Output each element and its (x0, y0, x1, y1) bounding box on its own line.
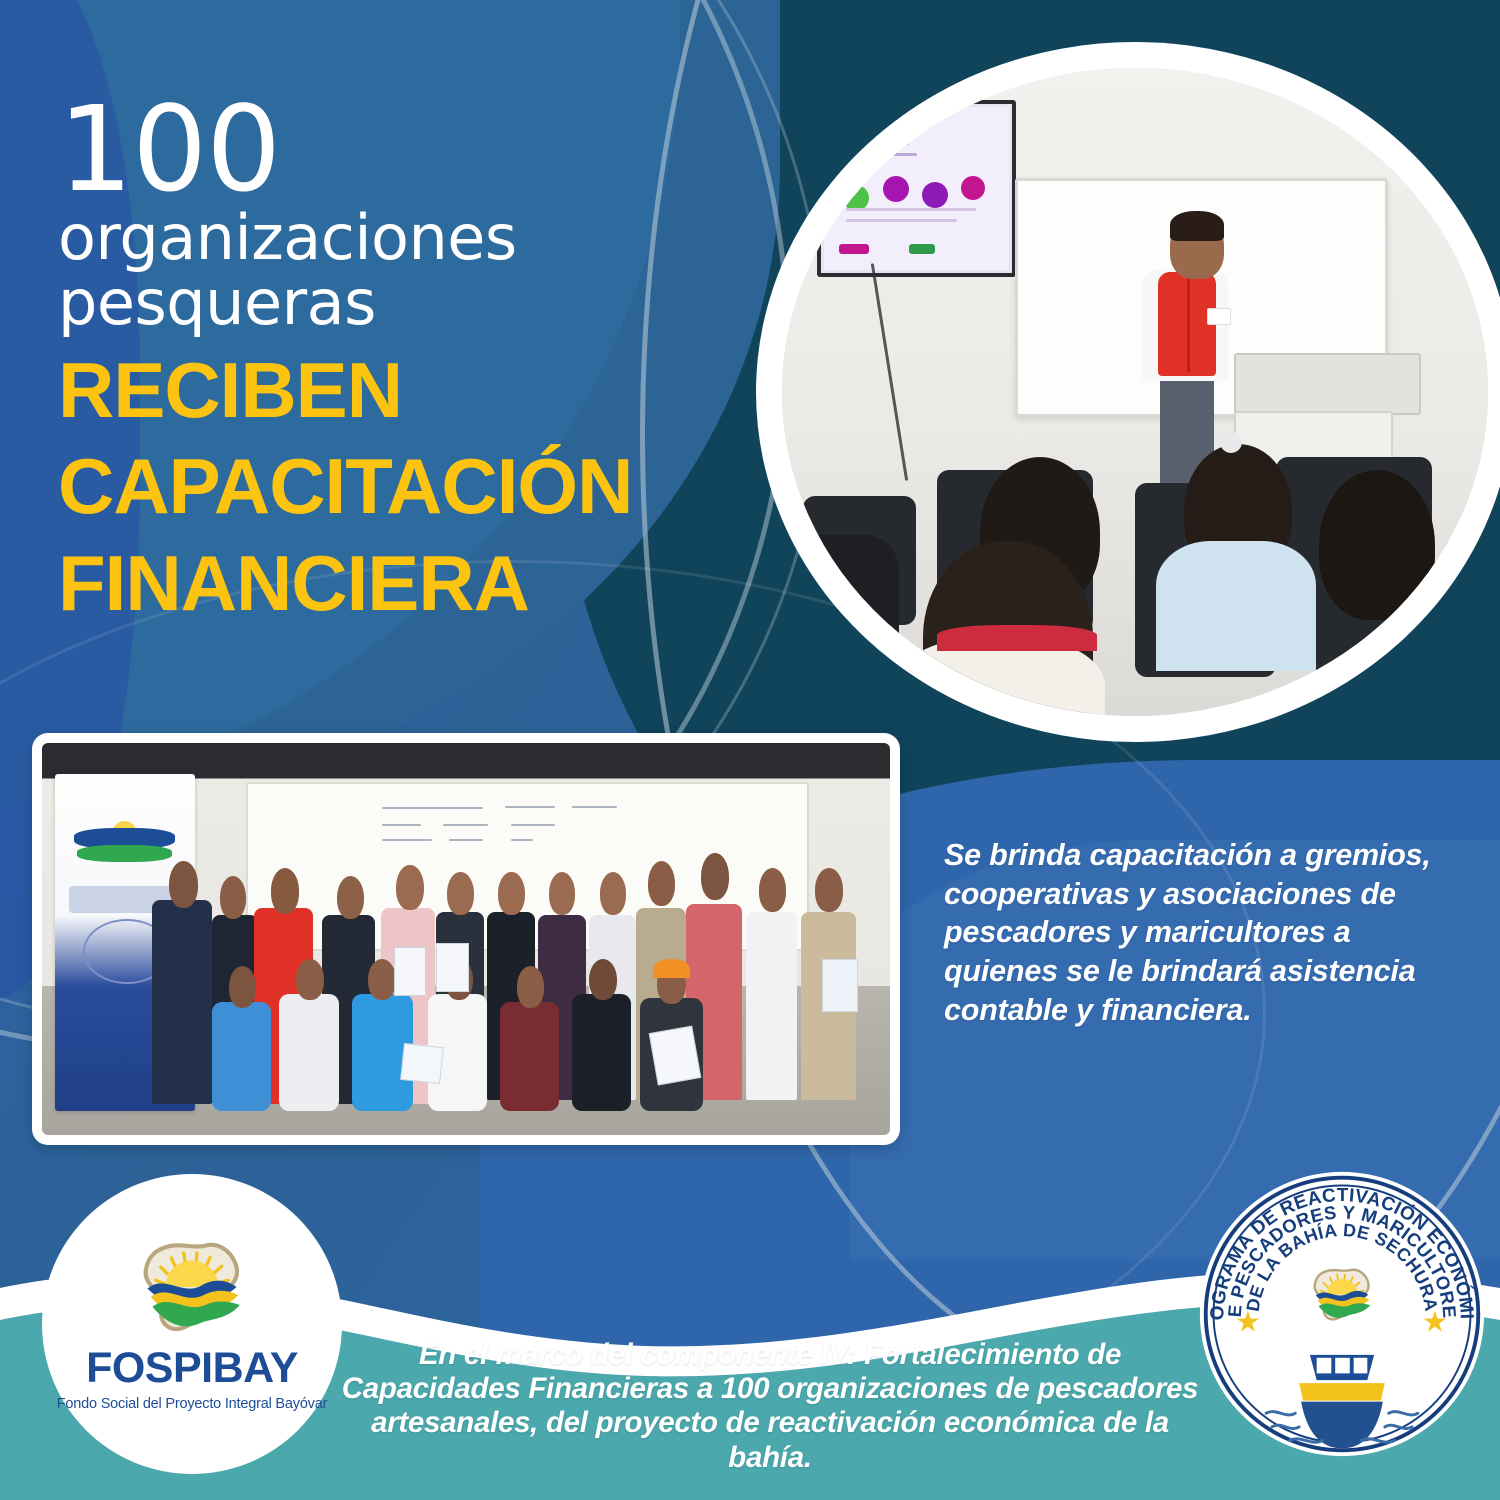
brochure (394, 947, 427, 996)
group-person (746, 912, 797, 1100)
tv-screen-icon (817, 100, 1016, 276)
headline-emphasis-1: RECIBEN (58, 350, 778, 430)
group-person-head (447, 872, 473, 915)
group-person-head (759, 868, 786, 911)
headline-subline-2: pesqueras (58, 271, 778, 334)
group-photo-image (42, 743, 890, 1135)
group-person-head (589, 959, 617, 1000)
audience-head (1319, 470, 1435, 620)
presenter-hair (1170, 211, 1224, 241)
brochure (648, 1026, 701, 1086)
headline-number: 100 (58, 95, 778, 204)
group-person-head (229, 966, 256, 1007)
group-person-head (648, 861, 675, 906)
orange-cap-icon (653, 959, 690, 979)
brochure (822, 959, 858, 1012)
audience-scarf (937, 625, 1097, 651)
fospibay-tagline: Fondo Social del Proyecto Integral Bayóv… (57, 1396, 327, 1412)
headline-subline-1: organizaciones (58, 206, 778, 269)
group-person (152, 900, 211, 1104)
group-person-head (337, 876, 364, 919)
audience-hoodie (1156, 541, 1316, 671)
group-person-head (296, 959, 323, 1000)
poster-canvas: 100 organizaciones pesqueras RECIBEN CAP… (0, 0, 1500, 1500)
classroom-photo-image (782, 68, 1488, 716)
desk (1234, 353, 1422, 415)
group-person-head (169, 861, 198, 908)
headline-emphasis-2: CAPACITACIÓN (58, 446, 778, 526)
brochure (401, 1043, 445, 1084)
group-person-head (396, 865, 423, 910)
group-person-head (271, 868, 299, 913)
group-person-head (220, 876, 246, 919)
bottom-caption: En el marco del componente IV: Fortaleci… (330, 1338, 1210, 1475)
brochure (436, 943, 469, 992)
fospibay-wordmark: FOSPIBAY (86, 1347, 298, 1390)
group-person-head (549, 872, 575, 915)
headline-emphasis-3: FINANCIERA (58, 543, 778, 623)
hair-tie (1220, 431, 1242, 453)
group-person-head (701, 853, 729, 900)
headline-block: 100 organizaciones pesqueras RECIBEN CAP… (58, 95, 778, 623)
classroom-photo-circle (770, 56, 1500, 728)
fospibay-logo: FOSPIBAY Fondo Social del Proyecto Integ… (42, 1174, 342, 1474)
group-person-head (815, 868, 843, 911)
audience-silhouette (789, 535, 899, 655)
fospibay-mark-icon (126, 1237, 258, 1345)
seal-star-left-icon: ★ (1235, 1307, 1261, 1339)
presenter-id-badge (1207, 308, 1231, 325)
group-person-front (212, 1002, 271, 1112)
group-person-front (279, 994, 338, 1112)
group-person-head (498, 872, 524, 915)
cable (871, 264, 908, 482)
group-person-front (500, 1002, 559, 1112)
group-person-head (368, 959, 396, 1000)
group-photo-card (32, 733, 900, 1145)
program-seal: PROGRAMA DE REACTIVACIÓN ECONÓMICA DE PE… (1196, 1168, 1488, 1460)
group-person-head (600, 872, 626, 915)
group-person-front (572, 994, 631, 1112)
seal-star-right-icon: ★ (1422, 1307, 1448, 1339)
group-person-head (517, 966, 544, 1007)
body-paragraph: Se brinda capacitación a gremios, cooper… (944, 836, 1464, 1030)
